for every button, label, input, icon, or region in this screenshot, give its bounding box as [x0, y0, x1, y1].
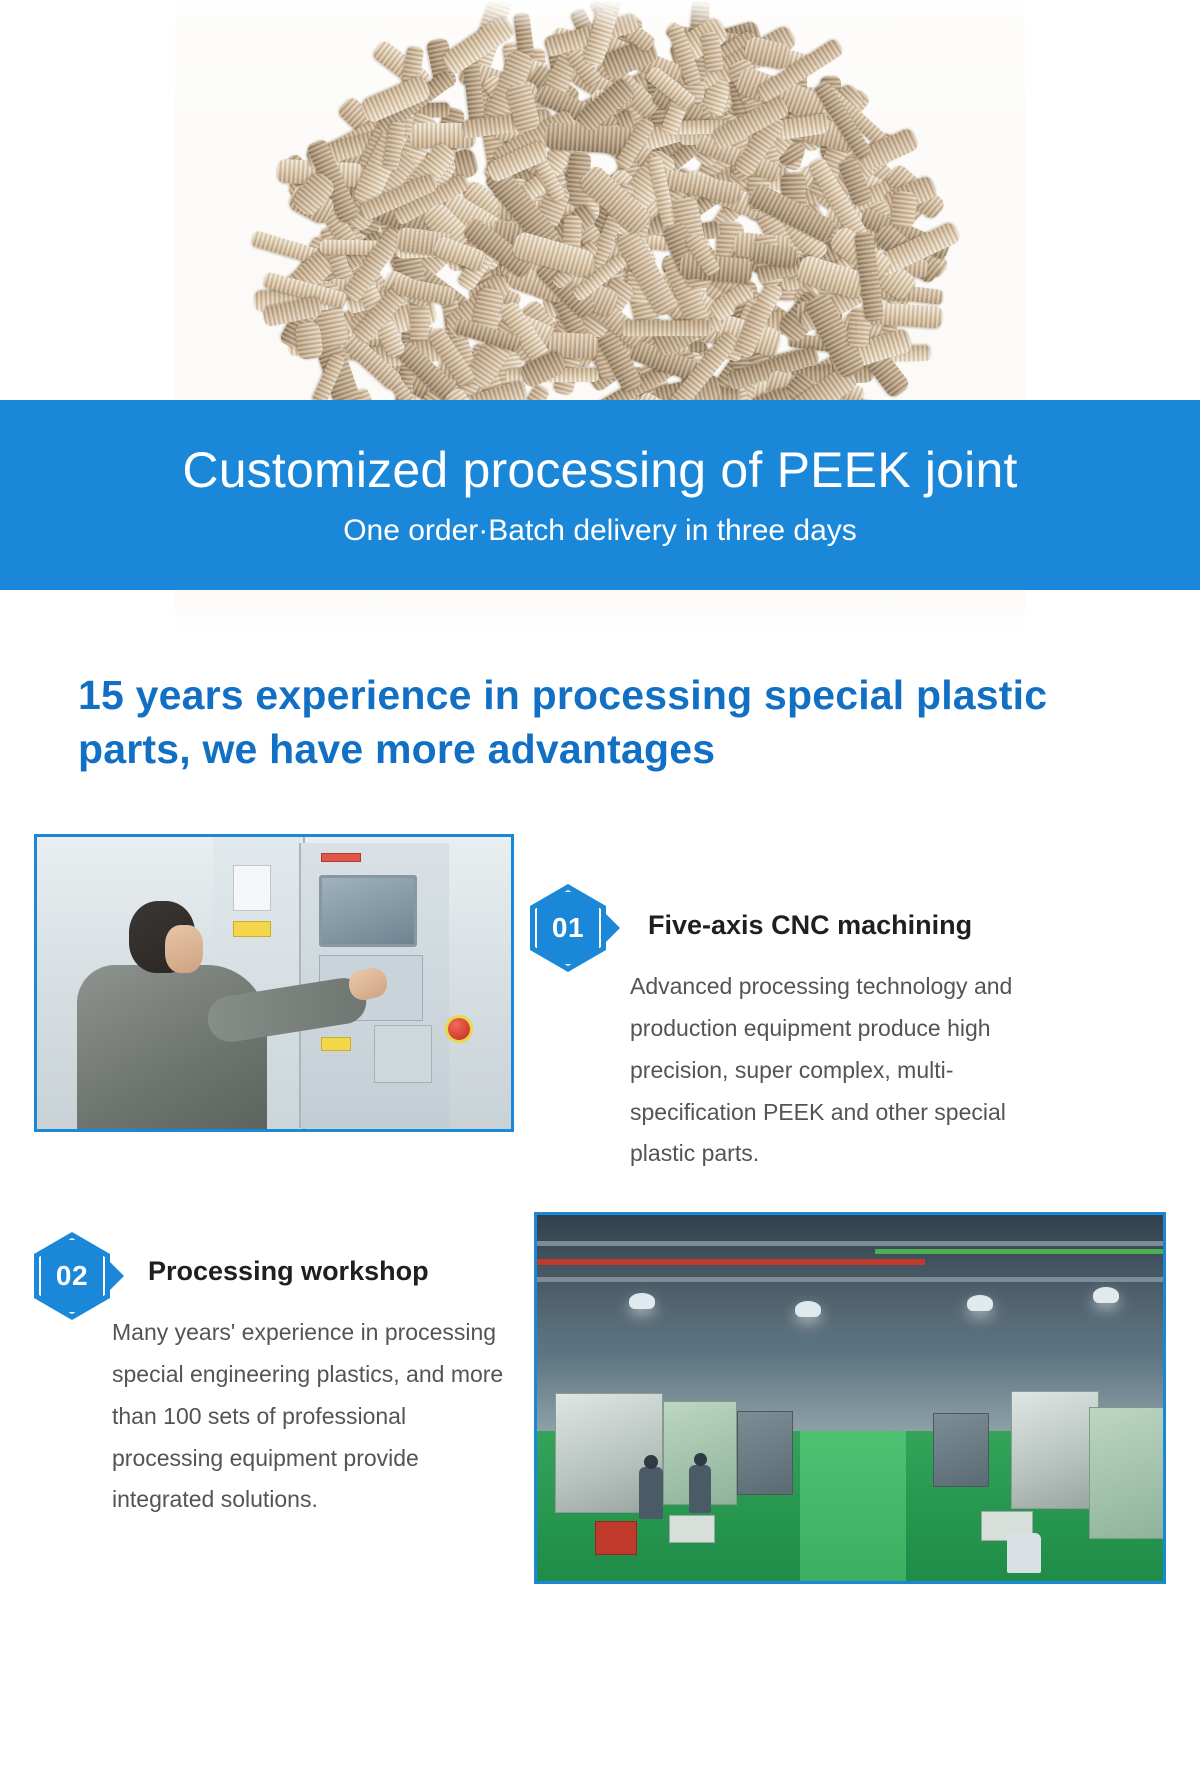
green-duct — [875, 1249, 1163, 1254]
peek-fitting — [294, 322, 324, 361]
worker-head — [694, 1453, 707, 1466]
feature-02-badge-tail — [108, 1260, 124, 1292]
door-warning-label — [233, 921, 271, 937]
cnc-keypad-secondary — [374, 1025, 432, 1083]
cnc-machine — [1011, 1391, 1099, 1509]
frame-shadow — [37, 1129, 511, 1132]
feature-01-title: Five-axis CNC machining — [648, 910, 972, 941]
material-cart — [595, 1521, 637, 1555]
page-headline: 15 years experience in processing specia… — [78, 668, 1088, 776]
material-cart — [669, 1515, 715, 1543]
cnc-machine — [1089, 1407, 1166, 1539]
feature-02-number: 02 — [56, 1260, 88, 1292]
door-notice-label — [233, 865, 271, 911]
worker — [639, 1467, 663, 1519]
ceiling-lamp — [1093, 1287, 1119, 1303]
feature-02-title: Processing workshop — [148, 1256, 429, 1287]
worker — [689, 1465, 711, 1513]
warning-label — [321, 853, 361, 862]
workshop-ceiling — [537, 1215, 1163, 1333]
feature-02-image — [534, 1212, 1166, 1584]
feature-01-badge: 01 — [530, 884, 606, 972]
worker-head — [644, 1455, 658, 1469]
red-pipe — [537, 1259, 925, 1265]
feature-01-image — [34, 834, 514, 1132]
feature-01-badge-tail — [604, 912, 620, 944]
banner-subtitle: One order·Batch delivery in three days — [343, 514, 857, 548]
hero-top-fade — [0, 0, 1200, 30]
peek-fitting — [890, 190, 918, 228]
feature-01-number: 01 — [552, 912, 584, 944]
emergency-stop-icon — [445, 1015, 473, 1043]
worker — [1007, 1533, 1041, 1573]
workshop-aisle — [800, 1431, 906, 1581]
feature-01-body: Advanced processing technology and produ… — [630, 966, 1060, 1175]
banner: Customized processing of PEEK joint One … — [0, 400, 1200, 590]
ceiling-beam — [537, 1277, 1163, 1282]
worker-face — [165, 925, 203, 973]
worker-body — [77, 965, 267, 1132]
peek-fitting — [622, 320, 711, 337]
feature-02-badge: 02 — [34, 1232, 110, 1320]
cnc-machine — [737, 1411, 793, 1495]
ceiling-beam — [537, 1241, 1163, 1246]
ceiling-lamp — [967, 1295, 993, 1311]
banner-title: Customized processing of PEEK joint — [182, 443, 1017, 498]
frame-shadow — [537, 1581, 1163, 1584]
feature-02-body: Many years' experience in processing spe… — [112, 1312, 512, 1521]
cnc-screen — [319, 875, 417, 947]
cnc-machine — [933, 1413, 989, 1487]
caution-label — [321, 1037, 351, 1051]
ceiling-lamp — [795, 1301, 821, 1317]
ceiling-lamp — [629, 1293, 655, 1309]
